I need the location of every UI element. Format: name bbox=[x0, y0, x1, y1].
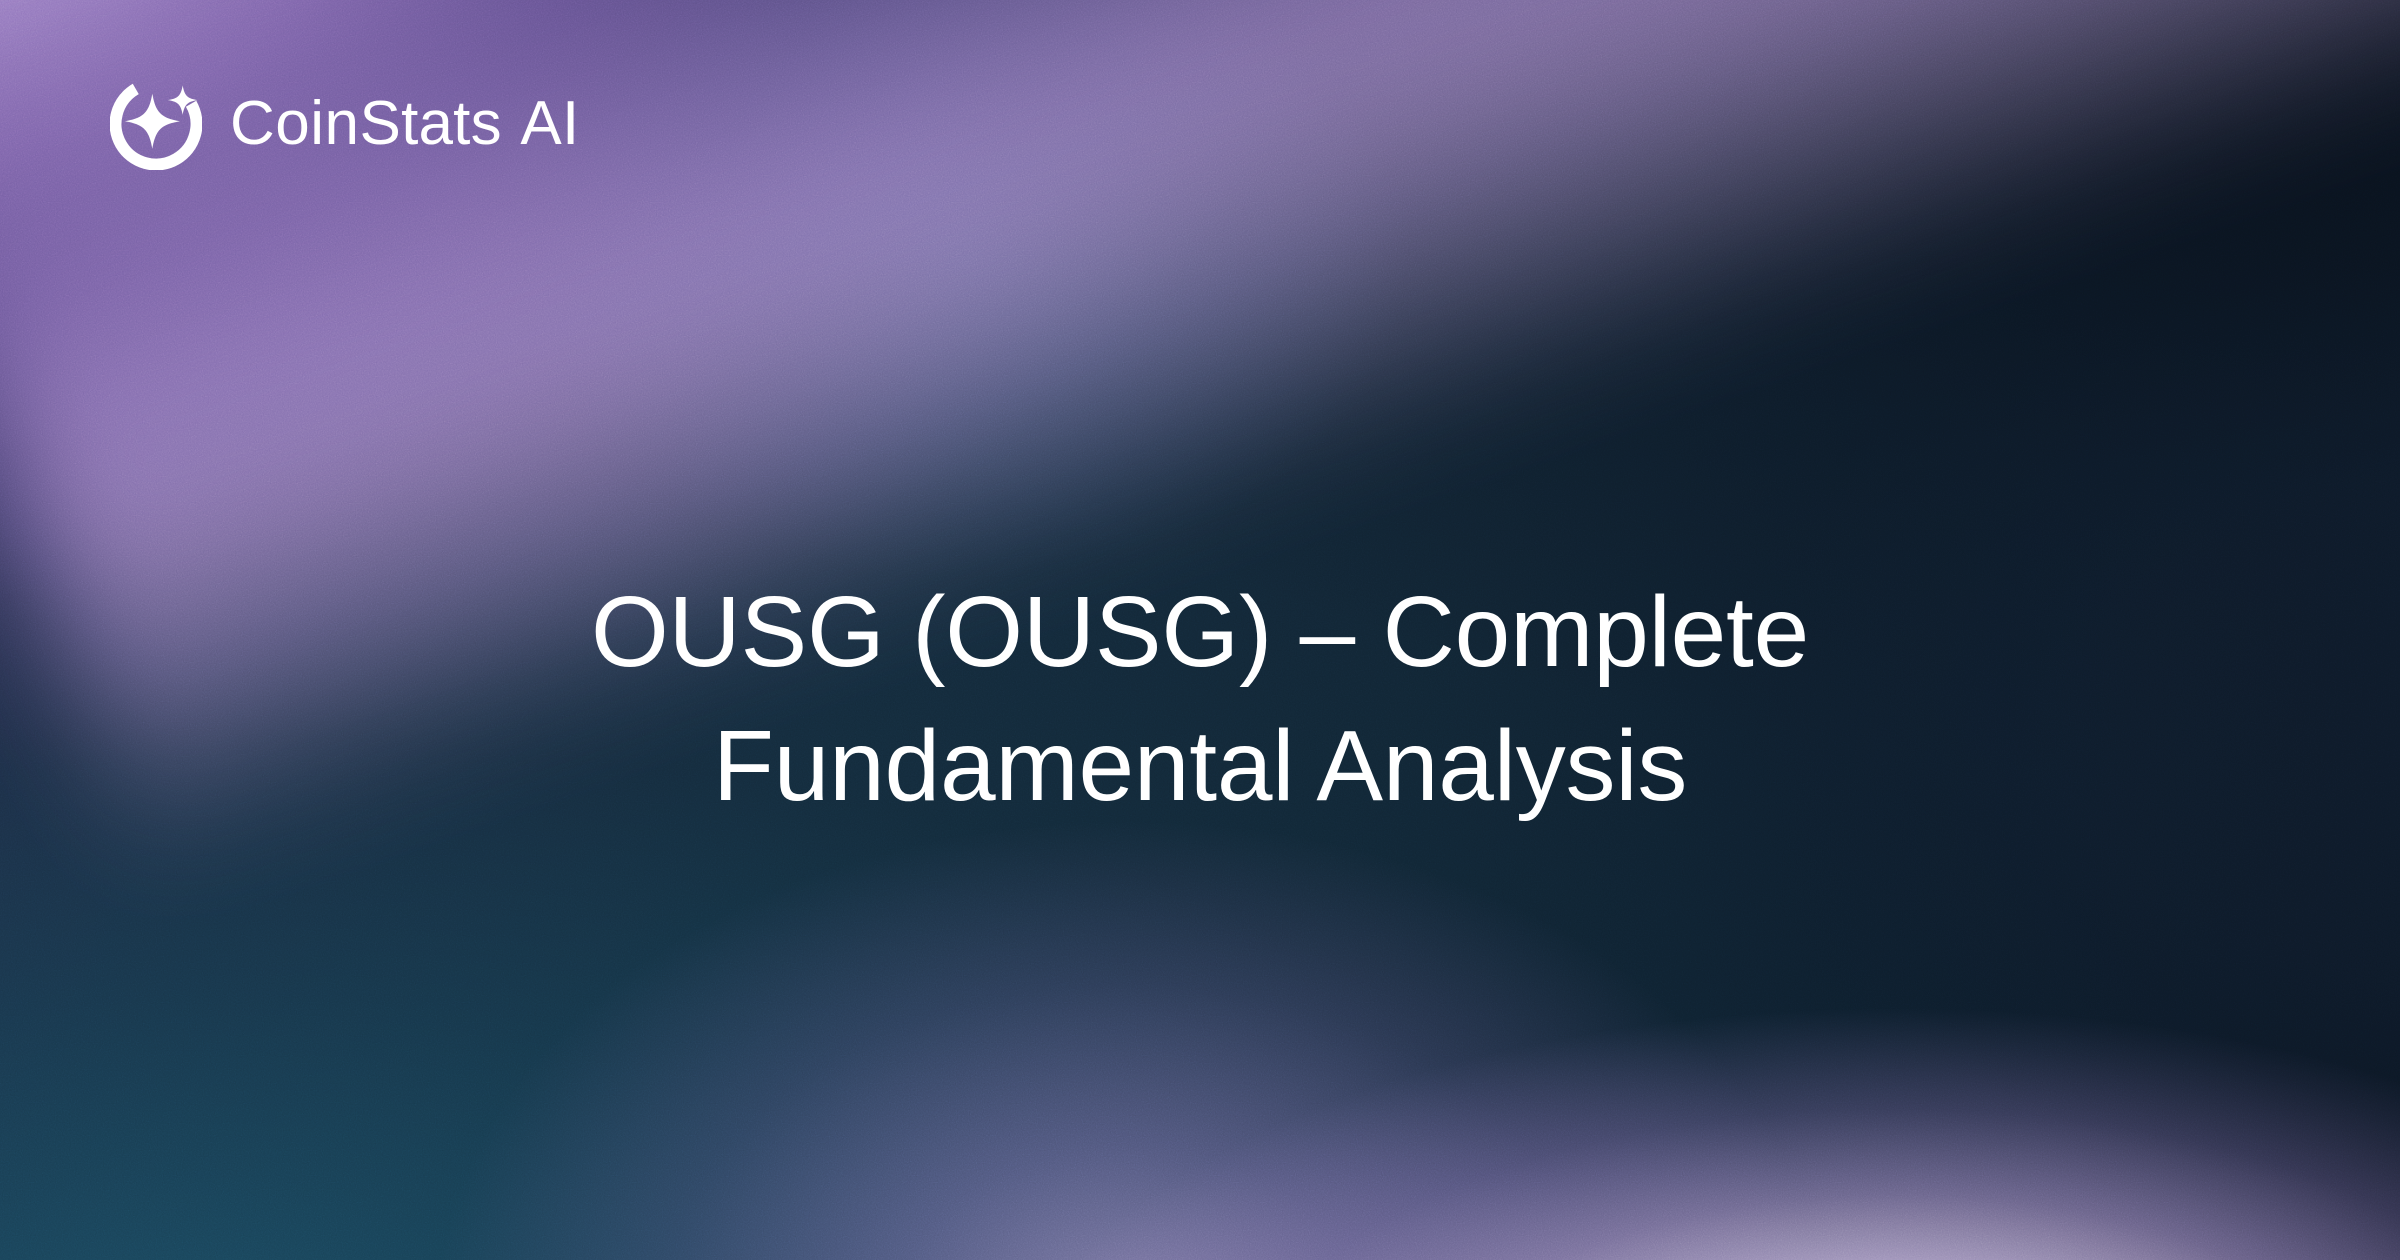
coinstats-sparkle-ring-icon bbox=[110, 78, 202, 170]
page-title-line-2: Fundamental Analysis bbox=[180, 699, 2220, 833]
page-title: OUSG (OUSG) – Complete Fundamental Analy… bbox=[0, 565, 2400, 833]
brand-wordmark-coin: Coin bbox=[230, 93, 360, 155]
share-card: CoinStatsAI OUSG (OUSG) – Complete Funda… bbox=[0, 0, 2400, 1260]
brand-wordmark: CoinStatsAI bbox=[230, 93, 579, 155]
page-title-line-1: OUSG (OUSG) – Complete bbox=[180, 565, 2220, 699]
brand-wordmark-ai: AI bbox=[520, 93, 579, 155]
brand-lockup: CoinStatsAI bbox=[110, 78, 579, 170]
brand-wordmark-stats: Stats bbox=[360, 93, 502, 155]
